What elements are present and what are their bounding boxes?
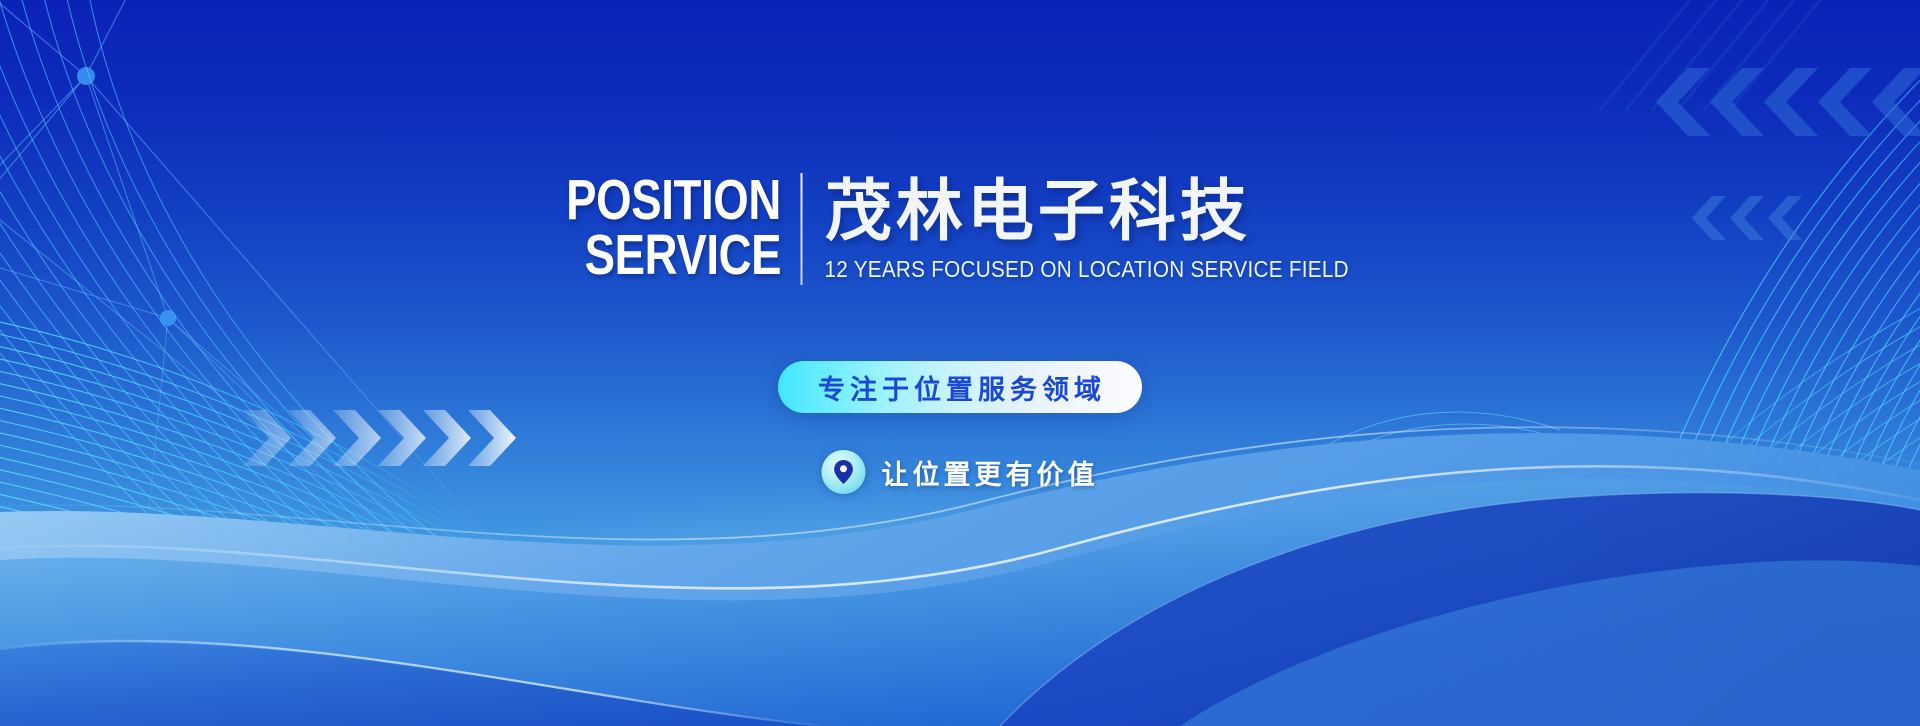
slogan-text: 让位置更有价值 xyxy=(882,453,1099,492)
brand-title-row: POSITION SERVICE 茂林电子科技 12 YEARS FOCUSED… xyxy=(512,171,1407,285)
english-subtitle: 12 YEARS FOCUSED ON LOCATION SERVICE FIE… xyxy=(825,255,1349,283)
page-title: 茂林电子科技 xyxy=(825,171,1408,251)
banner-content: POSITION SERVICE 茂林电子科技 12 YEARS FOCUSED… xyxy=(0,0,1920,726)
english-brand-line-2: SERVICE xyxy=(584,228,781,283)
focus-badge: 专注于位置服务领域 xyxy=(778,361,1142,413)
focus-badge-label: 专注于位置服务领域 xyxy=(814,368,1106,407)
chinese-brand-stack: 茂林电子科技 12 YEARS FOCUSED ON LOCATION SERV… xyxy=(803,171,1408,283)
location-pin-icon xyxy=(822,450,866,494)
hero-banner: POSITION SERVICE 茂林电子科技 12 YEARS FOCUSED… xyxy=(0,0,1920,726)
english-brand-line-1: POSITION xyxy=(566,173,781,228)
slogan-row: 让位置更有价值 xyxy=(822,450,1099,494)
english-brand-stack: POSITION SERVICE xyxy=(512,171,800,283)
